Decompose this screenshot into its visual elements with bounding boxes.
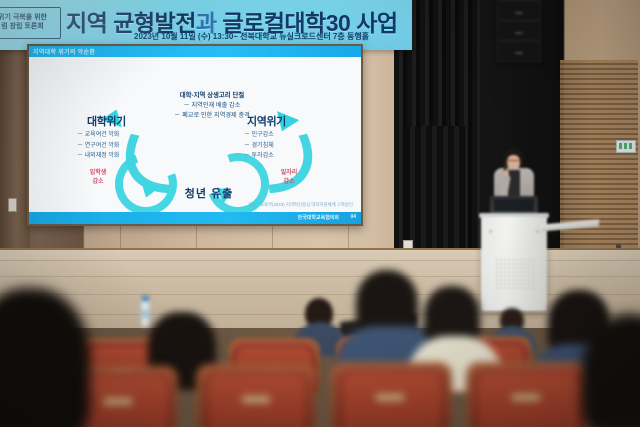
banner-title-part1: 지역 균형발전 <box>66 10 196 36</box>
left-bullet-2: － 내외재정 악화 <box>77 151 119 162</box>
slide-header-text: 지역대학 위기의 악순환 <box>33 47 95 56</box>
right-bullet-2: － 투자감소 <box>244 151 274 162</box>
banner-subtitle-box: 위기 극복을 위한 럼 창립 토론회 <box>0 7 61 39</box>
diagram-left-bullets: － 교육여건 악화 － 연구여건 악화 － 내외재정 악화 <box>77 130 119 162</box>
left-bullet-1: － 연구여건 악화 <box>77 141 119 152</box>
right-bullet-0: － 인구감소 <box>244 130 274 141</box>
banner-box-line1: 위기 극복을 위한 <box>0 14 47 23</box>
right-bullet-1: － 경기침체 <box>244 141 274 152</box>
left-bullet-0: － 교육여건 악화 <box>77 130 119 141</box>
event-banner: 위기 극복을 위한 럼 창립 토론회 지역 균형발전과 글로컬대학30 사업 2… <box>0 0 412 50</box>
podium <box>481 216 547 311</box>
diagram-right-bullets: － 인구감소 － 경기침체 － 투자감소 <box>244 130 274 162</box>
banner-title-part3: 글로컬대학30 사업 <box>217 10 398 36</box>
banner-title: 지역 균형발전과 글로컬대학30 사업 <box>66 4 398 38</box>
banner-title-part2: 과 <box>196 10 217 36</box>
glasses-icon <box>506 160 521 164</box>
line-array-speaker <box>497 0 541 62</box>
exit-sign-icon <box>616 140 636 153</box>
banner-box-line2: 럼 창립 토론회 <box>1 23 44 32</box>
center-bullet-0: － 지역인재 배출 감소 <box>147 101 277 111</box>
center-heading: 대학-지역 상생고리 단절 <box>147 91 277 101</box>
diagram-bottom-title: 청년 유출 <box>154 185 264 201</box>
stage-curtain-lower <box>404 126 466 268</box>
diagram-source-note: 자료 : 교육부(2023) 지역혁신중심 대학지원체계 구축방안 <box>248 202 353 208</box>
slide-footer-bar: 한국대학교육협의회 04 <box>29 212 361 224</box>
diagram-right-red-label: 일자리 감소 <box>272 169 306 187</box>
projection-screen: 지역대학 위기의 악순환 대학-지역 상생고리 단절 － 지역인재 배출 감소 … <box>27 44 363 226</box>
slide-diagram: 대학-지역 상생고리 단절 － 지역인재 배출 감소 － 폐교로 인한 지역경제… <box>29 57 361 212</box>
slide-footer-org: 한국대학교육협의회 <box>298 214 339 221</box>
diagram-left-red-label: 입학생 감소 <box>81 169 115 187</box>
slide-page-number: 04 <box>350 214 356 220</box>
diagram-right-title: 지역위기 <box>247 113 286 129</box>
diagram-left-title: 대학위기 <box>87 113 126 129</box>
auditorium-photo: 위기 극복을 위한 럼 창립 토론회 지역 균형발전과 글로컬대학30 사업 2… <box>0 0 640 427</box>
banner-subtitle: 2023년 10월 11일 (수) 13:30~ 전북대학교 뉴실크로드센터 7… <box>134 31 369 42</box>
